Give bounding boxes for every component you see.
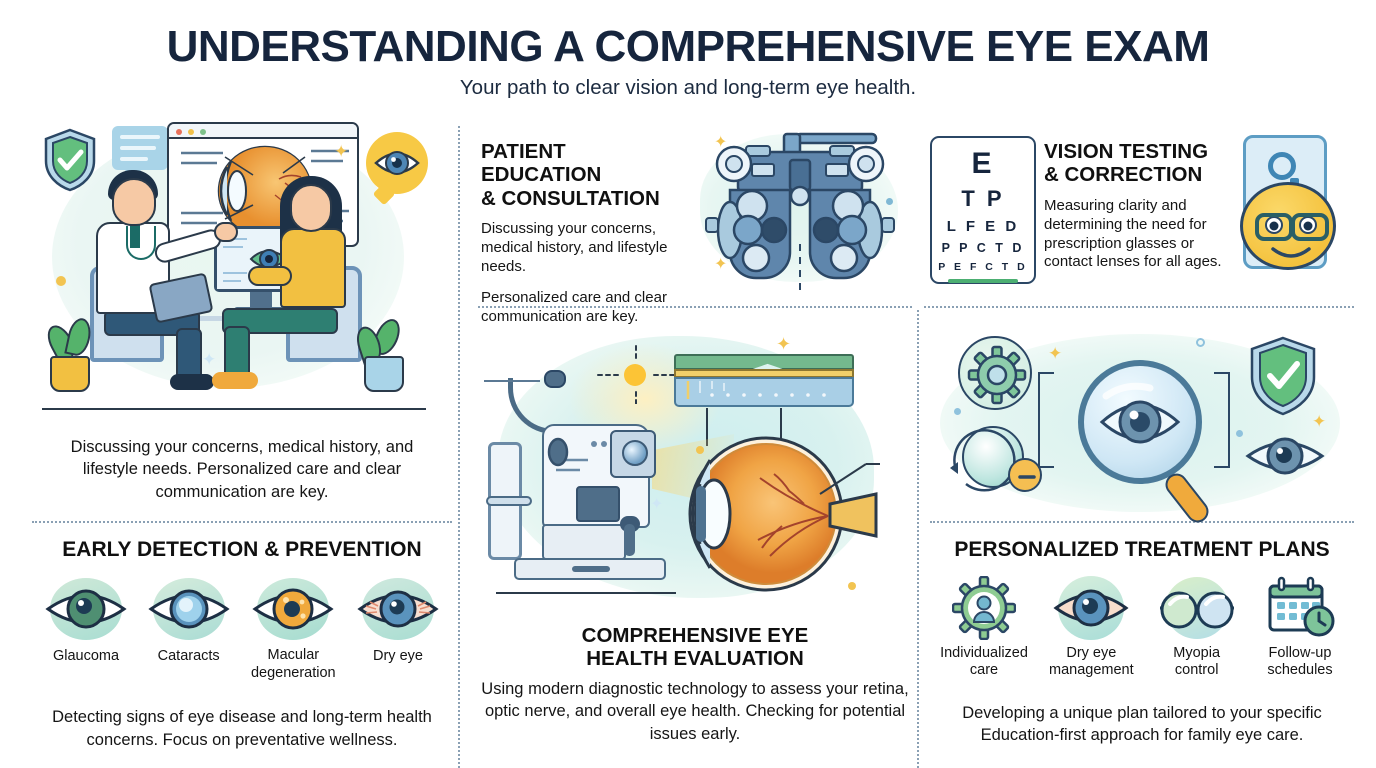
snellen-eye-chart: E T P L F E D P P C T D P E F C T D xyxy=(930,136,1036,284)
window-titlebar xyxy=(169,124,357,139)
stethoscope-icon xyxy=(126,226,156,260)
gear-circle xyxy=(958,336,1032,410)
treatment-caption-line2: Education-first approach for family eye … xyxy=(930,724,1354,746)
decor-dot xyxy=(954,408,961,415)
header: UNDERSTANDING A COMPREHENSIVE EYE EXAM Y… xyxy=(0,24,1376,100)
base-slot xyxy=(572,566,610,572)
decor-dot xyxy=(1236,430,1243,437)
early-detection-heading: EARLY DETECTION & PREVENTION xyxy=(32,538,452,562)
smiley-with-glasses-illustration xyxy=(1243,135,1327,269)
magnifier-eye-icon xyxy=(1078,360,1202,484)
vision-testing-heading-line1: VISION TESTING xyxy=(1044,140,1224,163)
retina-layer-scan xyxy=(674,377,854,407)
treatment-item-myopia-control[interactable]: Myopia control xyxy=(1149,576,1245,680)
doctor-patient-consultation-illustration: ✦ ✦ xyxy=(34,118,434,418)
shield-check-icon xyxy=(1248,336,1318,416)
treatment-label-line2: schedules xyxy=(1250,662,1350,679)
early-detection-item-dry-eye[interactable]: Dry eye xyxy=(350,578,446,682)
evaluation-heading-line2: HEALTH EVALUATION xyxy=(478,647,912,670)
patient-education-heading-line1: PATIENT EDUCATION xyxy=(481,140,677,187)
treatment-label-line1: Myopia xyxy=(1149,645,1245,662)
gear-person-icon xyxy=(952,576,1016,640)
divider-horizontal-left xyxy=(32,521,452,523)
sparkle-icon: ✦ xyxy=(1048,344,1062,364)
treatment-caption-line1: Developing a unique plan tailored to you… xyxy=(930,702,1354,724)
page-title: UNDERSTANDING A COMPREHENSIVE EYE EXAM xyxy=(0,24,1376,70)
smiley-face-icon xyxy=(1240,182,1336,270)
treatment-label-line1: Follow-up xyxy=(1250,645,1350,662)
treatment-label-line2: care xyxy=(934,662,1034,679)
divider-horizontal-right xyxy=(930,521,1354,523)
patient-head xyxy=(290,184,332,232)
treatment-item-dry-eye-management[interactable]: Dry eye management xyxy=(1039,576,1143,680)
plant-pot xyxy=(364,356,404,392)
doctor-shoe xyxy=(170,374,214,390)
doctor-shin xyxy=(176,328,202,380)
chart-row-3: L F E D xyxy=(932,218,1034,235)
sparkle-icon: ✦ xyxy=(650,494,663,514)
eye-icon xyxy=(1242,428,1328,484)
connector-bracket-right xyxy=(1214,372,1230,468)
patient-education-paragraph-1: Discussing your concerns, medical histor… xyxy=(481,220,677,277)
sparkle-icon: ✦ xyxy=(714,254,727,274)
patient-body xyxy=(280,228,346,308)
vision-testing-block: VISION TESTING & CORRECTION Measuring cl… xyxy=(1044,140,1224,272)
eye-speech-bubble-icon xyxy=(366,132,428,194)
divider-vertical-left xyxy=(458,126,460,768)
magnifier-q-icon xyxy=(1268,152,1296,180)
phoropter-icon xyxy=(700,126,900,296)
chin-rest xyxy=(486,496,532,506)
patient-education-block: PATIENT EDUCATION & CONSULTATION Discuss… xyxy=(481,140,677,327)
eye-cataracts-icon xyxy=(141,578,237,640)
calendar-clock-icon xyxy=(1264,576,1336,640)
sparkle-icon: ✦ xyxy=(1312,412,1326,432)
camera-screen xyxy=(576,486,620,522)
vision-testing-heading-line2: & CORRECTION xyxy=(1044,163,1224,186)
connector-bracket-left xyxy=(1038,372,1054,468)
page-subtitle: Your path to clear vision and long-term … xyxy=(0,76,1376,100)
treatment-label-line1: Dry eye xyxy=(1039,645,1143,662)
early-detection-item-macular[interactable]: Macular degeneration xyxy=(243,578,343,682)
early-detection-label: Macular degeneration xyxy=(243,647,343,682)
phoropter-illustration: ✦ ✦ xyxy=(700,126,900,296)
shield-check-icon xyxy=(42,128,98,192)
consultation-caption: Discussing your concerns, medical histor… xyxy=(52,436,432,503)
eye-dry-eye-icon xyxy=(350,578,446,640)
chart-row-5: P E F C T D xyxy=(932,261,1034,273)
vision-testing-paragraph: Measuring clarity and determining the ne… xyxy=(1044,197,1224,273)
eye-glaucoma-icon xyxy=(38,578,134,640)
early-detection-item-glaucoma[interactable]: Glaucoma xyxy=(38,578,134,682)
chat-bubble-icon xyxy=(112,126,168,170)
joystick-icon xyxy=(624,524,635,556)
infographic-page: UNDERSTANDING A COMPREHENSIVE EYE EXAM Y… xyxy=(0,0,1376,768)
early-detection-section: EARLY DETECTION & PREVENTION Glaucoma xyxy=(32,538,452,751)
floor-line xyxy=(496,592,676,594)
personalized-treatment-section: PERSONALIZED TREATMENT PLANS xyxy=(930,538,1354,747)
early-detection-item-cataracts[interactable]: Cataracts xyxy=(141,578,237,682)
chart-row-1: E xyxy=(932,147,1034,181)
sparkle-icon: ✦ xyxy=(776,334,791,355)
patient-shoe xyxy=(212,372,258,389)
decor-dot xyxy=(56,276,66,286)
treatment-item-follow-up-schedules[interactable]: Follow-up schedules xyxy=(1250,576,1350,680)
callout-line xyxy=(484,380,540,382)
comprehensive-evaluation-illustration: ✦ ✦ xyxy=(484,326,888,618)
monitor-stand xyxy=(250,292,272,308)
floor-line xyxy=(42,408,426,410)
divider-vertical-right xyxy=(917,310,919,768)
decor-dot xyxy=(696,446,704,454)
personalized-care-illustration: ✦ ✦ xyxy=(930,330,1350,520)
treatment-label-line2: control xyxy=(1149,662,1245,679)
patient-shin xyxy=(224,326,250,378)
chart-underline xyxy=(948,279,1018,283)
doctor-head xyxy=(112,178,156,226)
decor-dot xyxy=(886,198,893,205)
decor-dot xyxy=(848,582,856,590)
personalized-treatment-heading: PERSONALIZED TREATMENT PLANS xyxy=(930,538,1354,562)
sparkle-icon: ✦ xyxy=(714,132,727,152)
early-detection-label: Cataracts xyxy=(141,647,237,665)
chart-row-2: T P xyxy=(932,186,1034,212)
treatment-label-line1: Individualized xyxy=(934,645,1034,662)
early-detection-label: Dry eye xyxy=(350,647,446,665)
round-glasses-icon xyxy=(1156,576,1238,640)
doctor-hand xyxy=(214,222,238,242)
sparkle-icon: ✦ xyxy=(202,350,216,370)
evaluation-heading-line1: COMPREHENSIVE EYE xyxy=(478,624,912,647)
eye-dry-icon xyxy=(1051,576,1131,640)
patient-arm xyxy=(248,266,292,286)
comprehensive-evaluation-block: COMPREHENSIVE EYE HEALTH EVALUATION Usin… xyxy=(478,624,912,745)
treatment-item-individualized-care[interactable]: Individualized care xyxy=(934,576,1034,680)
eye-anatomy-cross-section-icon xyxy=(670,430,880,600)
patient-education-paragraph-2: Personalized care and clear communicatio… xyxy=(481,289,677,327)
gooseneck-tip xyxy=(544,370,566,388)
plant-pot xyxy=(50,356,90,392)
minus-lens-icon xyxy=(1008,458,1042,492)
treatment-label-line2: management xyxy=(1039,662,1143,679)
early-detection-label: Glaucoma xyxy=(38,647,134,665)
gear-icon xyxy=(960,338,1034,412)
camera-lens xyxy=(622,440,648,466)
chart-row-4: P P C T D xyxy=(932,241,1034,255)
decor-dot xyxy=(1196,338,1205,347)
divider-horizontal-top-right xyxy=(924,306,1354,308)
eye-macular-degeneration-icon xyxy=(245,578,341,640)
evaluation-caption: Using modern diagnostic technology to as… xyxy=(478,678,912,745)
early-detection-caption: Detecting signs of eye disease and long-… xyxy=(32,706,452,751)
patient-education-heading-line2: & CONSULTATION xyxy=(481,187,677,210)
sparkle-icon: ✦ xyxy=(334,142,348,162)
camera-column xyxy=(542,524,626,560)
